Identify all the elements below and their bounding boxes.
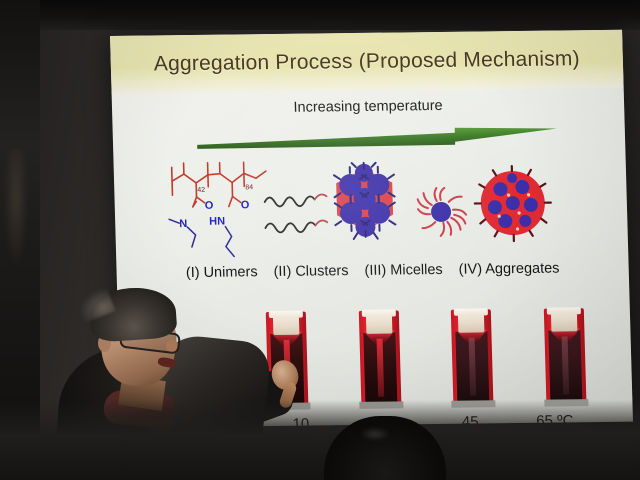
cuvette-32c [352, 308, 407, 409]
cluster-particles-icon [320, 160, 410, 249]
svg-text:84: 84 [245, 184, 253, 191]
stage-label-clusters: (II) Clusters [273, 263, 348, 280]
audience-hair-highlight [360, 428, 390, 440]
temperature-arrow-icon [197, 123, 558, 151]
aggregate-particle-icon [470, 161, 556, 246]
wall-smudge [4, 150, 28, 270]
wall-lower-shadow [0, 400, 640, 480]
cuvette-45c [445, 307, 500, 408]
wall-upper-shadow [0, 0, 640, 30]
cuvette-photo-row [260, 306, 593, 410]
svg-text:N: N [179, 218, 187, 230]
slide-title-band: Aggregation Process (Proposed Mechanism) [110, 30, 624, 94]
photo-scene: Aggregation Process (Proposed Mechanism)… [0, 0, 640, 480]
increasing-temperature-label: Increasing temperature [112, 96, 624, 118]
stage-label-micelles: (III) Micelles [364, 262, 443, 279]
micelle-particle-icon [410, 182, 472, 243]
cuvette-65c [538, 306, 593, 407]
svg-text:42: 42 [197, 187, 205, 194]
svg-text:O: O [241, 199, 250, 211]
stage-label-aggregates: (IV) Aggregates [458, 261, 559, 278]
stage-label-unimers: (I) Unimers [186, 264, 258, 281]
svg-text:HN: HN [209, 216, 225, 228]
svg-text:O: O [205, 200, 214, 212]
slide-title: Aggregation Process (Proposed Mechanism) [154, 47, 581, 76]
